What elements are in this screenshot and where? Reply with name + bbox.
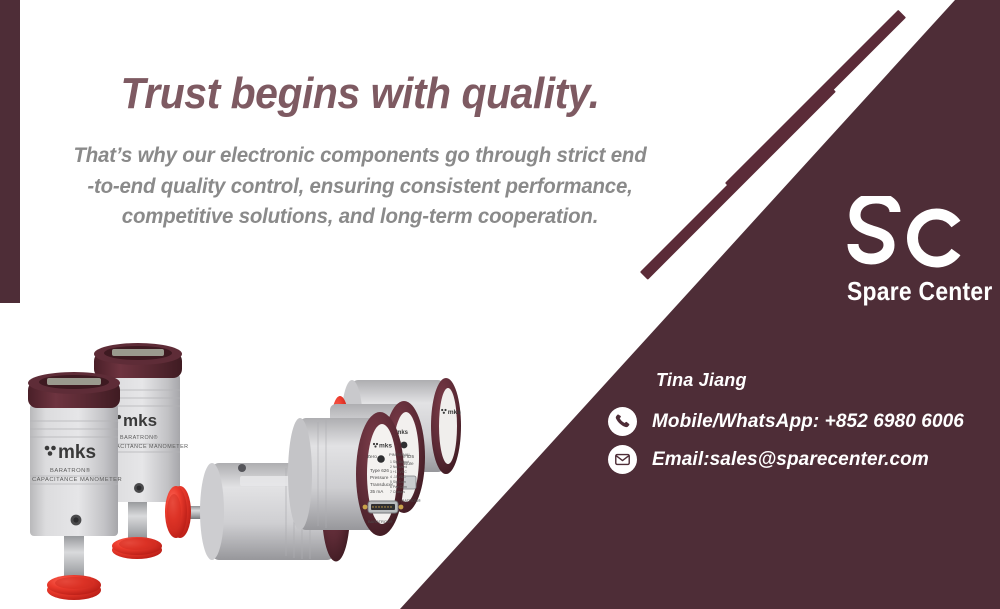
product-manometer-front: mks BARATRON® CAPACITANCE MANOMETER bbox=[28, 372, 122, 600]
svg-text:35 mA: 35 mA bbox=[370, 489, 384, 494]
svg-text:1 Sig Output: 1 Sig Output bbox=[390, 460, 409, 464]
subcopy-block: That’s why our electronic components go … bbox=[18, 140, 702, 232]
product-transducer-front: mks Zero PIN SIGNAL Type 626 Pressure Tr… bbox=[288, 412, 411, 536]
subcopy-line-3: competitive solutions, and long-term coo… bbox=[18, 201, 702, 232]
brand-logo: Spare Center bbox=[838, 196, 988, 307]
svg-text:5 Sig Com: 5 Sig Com bbox=[390, 480, 406, 484]
svg-text:3 +15 VDC: 3 +15 VDC bbox=[390, 470, 407, 474]
phone-icon bbox=[608, 407, 637, 436]
svg-text:2 Not Used: 2 Not Used bbox=[390, 465, 407, 469]
svg-text:SIGNAL: SIGNAL bbox=[396, 452, 411, 457]
contact-person-name: Tina Jiang bbox=[656, 370, 1000, 391]
svg-text:mks: mks bbox=[448, 409, 462, 416]
envelope-icon bbox=[608, 445, 637, 474]
svg-text:PIN: PIN bbox=[389, 452, 396, 457]
email-address: Email:sales@sparecenter.com bbox=[652, 449, 929, 471]
subcopy-line-1: That’s why our electronic components go … bbox=[18, 140, 702, 171]
product-image-group: mks BARATRON® CAPACITANCE MANOMETER bbox=[0, 318, 600, 609]
svg-text:4 -15 VDC: 4 -15 VDC bbox=[390, 475, 406, 479]
copy-block: Trust begins with quality. That’s why ou… bbox=[0, 70, 720, 232]
svg-text:Pressure: Pressure bbox=[370, 475, 389, 480]
svg-text:Type 626: Type 626 bbox=[370, 468, 389, 473]
subcopy-line-2: -to-end quality control, ensuring consis… bbox=[18, 171, 702, 202]
contact-row-email[interactable]: Email:sales@sparecenter.com bbox=[608, 445, 1000, 474]
svg-text:6 Pwr Com: 6 Pwr Com bbox=[390, 485, 407, 489]
svg-text:mks: mks bbox=[123, 411, 157, 430]
svg-text:BARATRON®: BARATRON® bbox=[120, 434, 158, 441]
phone-number: Mobile/WhatsApp: +852 6980 6006 bbox=[652, 411, 964, 433]
svg-text:CAPACITANCE MANOMETER: CAPACITANCE MANOMETER bbox=[32, 477, 122, 483]
marketing-banner: Trust begins with quality. That’s why ou… bbox=[0, 0, 1000, 609]
logo-wordmark: Spare Center bbox=[847, 276, 979, 307]
svg-text:7 Chassis: 7 Chassis bbox=[390, 490, 405, 494]
svg-text:mks: mks bbox=[58, 442, 96, 463]
svg-text:Zero: Zero bbox=[367, 454, 377, 460]
svg-text:BARATRON®: BARATRON® bbox=[368, 519, 393, 524]
sc-monogram-icon bbox=[838, 196, 988, 274]
contact-block: Tina Jiang Mobile/WhatsApp: +852 6980 60… bbox=[608, 370, 1000, 483]
page-title: Trust begins with quality. bbox=[25, 70, 695, 118]
svg-text:BARATRON®: BARATRON® bbox=[50, 467, 91, 474]
svg-text:mks: mks bbox=[379, 443, 392, 450]
contact-row-phone[interactable]: Mobile/WhatsApp: +852 6980 6006 bbox=[608, 407, 1000, 436]
